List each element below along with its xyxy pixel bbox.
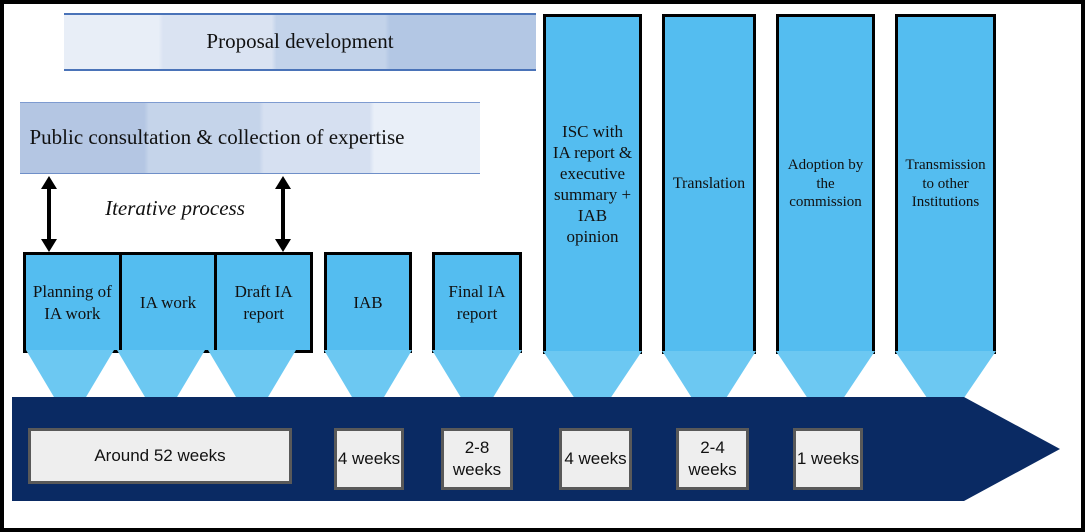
stage-draft-ia-report: Draft IA report bbox=[214, 255, 310, 350]
duration-chip-adoption-label: 1 weeks bbox=[797, 448, 859, 470]
duration-chip-final-ia-report: 2-8 weeks bbox=[441, 428, 513, 490]
stage-transmission-to-other-institutions-label: Transmission to other Institutions bbox=[903, 156, 988, 212]
stage-isc-with-ia-report: ISC with IA report & executive summary +… bbox=[543, 14, 642, 424]
duration-chip-adoption: 1 weeks bbox=[793, 428, 863, 490]
stage-ia-work: IA work bbox=[119, 255, 215, 350]
iterative-process-label: Iterative process bbox=[82, 196, 268, 221]
stage-adoption-by-the-commission-label: Adoption by the commission bbox=[784, 156, 867, 212]
stage-planning-of-ia-work-label: Planning of IA work bbox=[26, 281, 119, 324]
duration-chip-iab: 4 weeks bbox=[334, 428, 404, 490]
stage-adoption-by-the-commission: Adoption by the commission bbox=[776, 14, 875, 424]
double-headed-arrow-icon bbox=[274, 176, 292, 252]
double-headed-arrow-icon bbox=[40, 176, 58, 252]
duration-chip-around-52-weeks-label: Around 52 weeks bbox=[94, 445, 225, 467]
banner-public-consultation: Public consultation & collection of expe… bbox=[20, 102, 480, 174]
duration-chip-around-52-weeks: Around 52 weeks bbox=[28, 428, 292, 484]
duration-chip-iab-label: 4 weeks bbox=[338, 448, 400, 470]
stage-final-ia-report-label: Final IA report bbox=[435, 281, 519, 323]
stage-ia-work-label: IA work bbox=[140, 292, 196, 313]
process-timeline-diagram: Proposal development Public consultation… bbox=[0, 0, 1085, 532]
duration-chip-isc-label: 4 weeks bbox=[564, 448, 626, 470]
duration-chip-translation: 2-4 weeks bbox=[676, 428, 749, 490]
stage-translation: Translation bbox=[662, 14, 756, 424]
duration-chip-isc: 4 weeks bbox=[559, 428, 632, 490]
stage-group-ia-preparation: Planning of IA work IA work Draft IA rep… bbox=[23, 252, 313, 353]
stage-draft-ia-report-label: Draft IA report bbox=[217, 281, 310, 324]
stage-isc-with-ia-report-label: ISC with IA report & executive summary +… bbox=[552, 121, 633, 247]
banner-proposal-development: Proposal development bbox=[64, 13, 536, 71]
banner-public-consultation-label: Public consultation & collection of expe… bbox=[30, 125, 405, 151]
banner-proposal-development-label: Proposal development bbox=[206, 29, 393, 55]
stage-translation-label: Translation bbox=[673, 174, 745, 194]
stage-iab-label: IAB bbox=[353, 292, 382, 313]
stage-transmission-to-other-institutions: Transmission to other Institutions bbox=[895, 14, 996, 424]
stage-planning-of-ia-work: Planning of IA work bbox=[26, 255, 119, 350]
duration-chip-final-ia-report-label: 2-8 weeks bbox=[444, 437, 510, 481]
duration-chip-translation-label: 2-4 weeks bbox=[679, 437, 746, 481]
